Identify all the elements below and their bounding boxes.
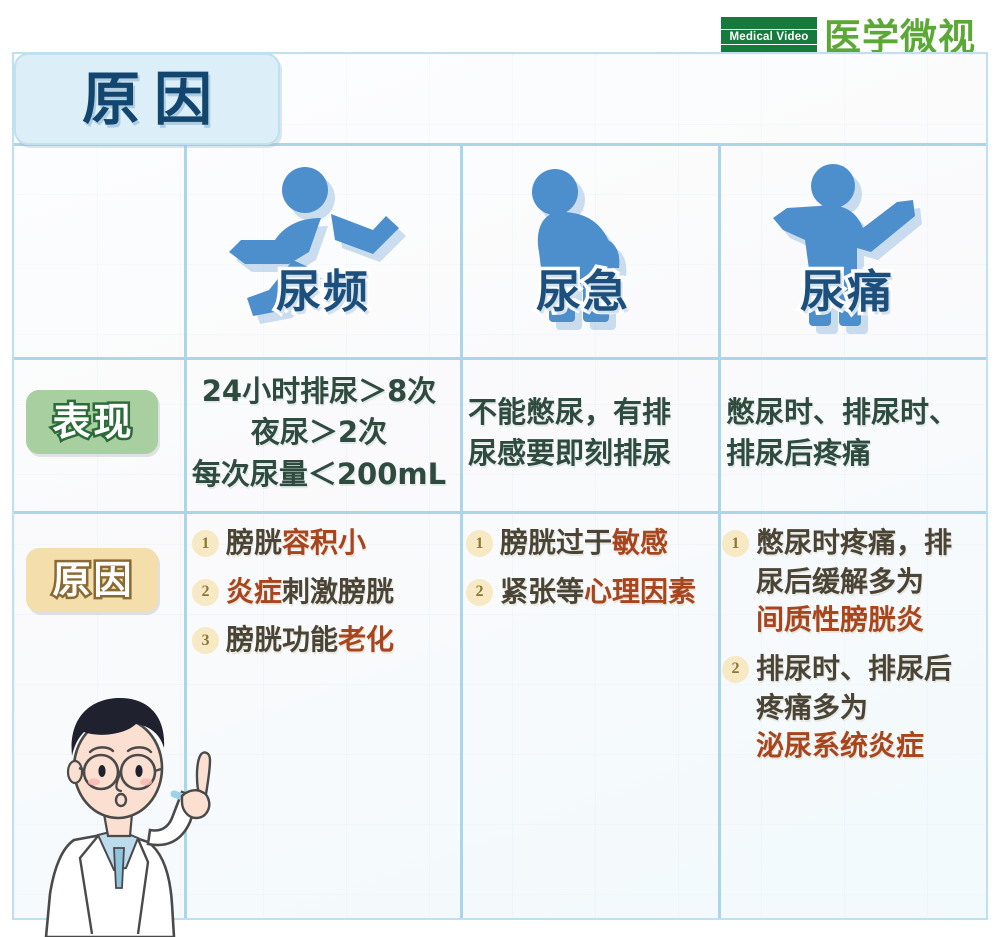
cause-plain-text: 刺激膀胱 [282,575,394,608]
manifestation-cell-urgency: 不能憋尿，有排尿感要即刻排尿 [468,358,706,508]
cause-item: 2排尿时、排尿后疼痛多为泌尿系统炎症 [722,650,984,766]
cause-number-badge: 3 [192,627,219,654]
symptom-label-urgency: 尿急 [483,269,683,314]
cause-text: 紧张等心理因素 [500,573,696,612]
cause-text: 排尿时、排尿后疼痛多为泌尿系统炎症 [756,650,952,766]
cause-cell-urgency: 1膀胱过于敏感2紧张等心理因素 [466,524,714,621]
cause-item: 1膀胱容积小 [192,524,454,563]
table-rule-col2 [718,143,721,920]
cause-plain-text: 紧张等 [500,575,584,608]
logo-mark-icon: Medical Video [721,17,817,57]
cause-item: 2紧张等心理因素 [466,573,714,612]
text-line: 尿感要即刻排尿 [468,433,671,474]
cause-plain-text: 排尿时、排尿后 [756,652,952,685]
cause-number-badge: 1 [722,530,749,557]
cause-text: 膀胱容积小 [226,524,366,563]
cause-keyword: 老化 [338,623,394,656]
cause-keyword: 心理因素 [584,575,696,608]
row-label-cause: 原因 [26,548,158,612]
cause-text: 炎症刺激膀胱 [226,573,394,612]
row-label-manifestation: 表现 [26,390,158,454]
row-label-manifestation-text: 表现 [49,403,134,441]
symptom-label-pain: 尿痛 [747,269,947,314]
row-label-cause-text: 原因 [49,561,134,599]
cause-item: 1憋尿时疼痛，排尿后缓解多为间质性膀胱炎 [722,524,984,640]
cause-text: 膀胱功能老化 [226,621,394,660]
cause-plain-text: 膀胱功能 [226,623,338,656]
text-line: 每次尿量＜200mL [188,454,450,495]
page-title: 原因 [68,70,226,128]
cause-plain-text: 膀胱 [226,526,282,559]
cause-keyword: 间质性膀胱炎 [756,603,924,636]
text-line: 不能憋尿，有排 [468,392,671,433]
cause-number-badge: 1 [466,530,493,557]
cause-plain-text: 尿后缓解多为 [756,565,924,598]
cause-plain-text: 膀胱过于 [500,526,612,559]
manifestation-text-pain: 憋尿时、排尿时、排尿后疼痛 [726,392,958,474]
text-line: 憋尿时、排尿时、 [726,392,958,433]
cause-text: 憋尿时疼痛，排尿后缓解多为间质性膀胱炎 [756,524,952,640]
cause-number-badge: 2 [466,579,493,606]
symptom-header-urgency: 尿急 [458,150,708,342]
logo-bar-middle: Medical Video [721,30,817,44]
cause-item: 1膀胱过于敏感 [466,524,714,563]
page-title-chip: 原因 [14,53,280,145]
cause-number-badge: 2 [722,656,749,683]
logo-chinese-text: 医学微视 [824,19,976,56]
cause-plain-text: 疼痛多为 [756,691,868,724]
infographic-page: Medical Video 医学微视 原因 [0,0,1000,937]
cause-keyword: 炎症 [226,575,282,608]
cause-keyword: 容积小 [282,526,366,559]
manifestation-text-frequency: 24小时排尿＞8次夜尿＞2次每次尿量＜200mL [188,371,450,495]
text-line: 排尿后疼痛 [726,433,958,474]
doctor-illustration [22,672,237,937]
manifestation-cell-frequency: 24小时排尿＞8次夜尿＞2次每次尿量＜200mL [188,358,450,508]
cause-item: 2炎症刺激膀胱 [192,573,454,612]
cause-text: 膀胱过于敏感 [500,524,668,563]
cause-item: 3膀胱功能老化 [192,621,454,660]
cause-number-badge: 1 [192,530,219,557]
manifestation-cell-pain: 憋尿时、排尿时、排尿后疼痛 [726,358,982,508]
cause-number-badge: 2 [192,579,219,606]
manifestation-text-urgency: 不能憋尿，有排尿感要即刻排尿 [468,392,671,474]
cause-cell-pain: 1憋尿时疼痛，排尿后缓解多为间质性膀胱炎2排尿时、排尿后疼痛多为泌尿系统炎症 [722,524,984,776]
cause-cell-frequency: 1膀胱容积小2炎症刺激膀胱3膀胱功能老化 [192,524,454,670]
text-line: 夜尿＞2次 [188,412,450,453]
symptom-label-frequency: 尿频 [223,269,423,314]
logo-english-text: Medical Video [729,31,808,43]
text-line: 24小时排尿＞8次 [188,371,450,412]
logo-bar-top [721,17,817,29]
symptom-header-pain: 尿痛 [722,150,972,342]
cause-keyword: 泌尿系统炎症 [756,729,924,762]
cause-keyword: 敏感 [612,526,668,559]
symptom-header-frequency: 尿频 [198,150,448,342]
cause-plain-text: 憋尿时疼痛，排 [756,526,952,559]
table-rule-mid2 [14,511,986,514]
